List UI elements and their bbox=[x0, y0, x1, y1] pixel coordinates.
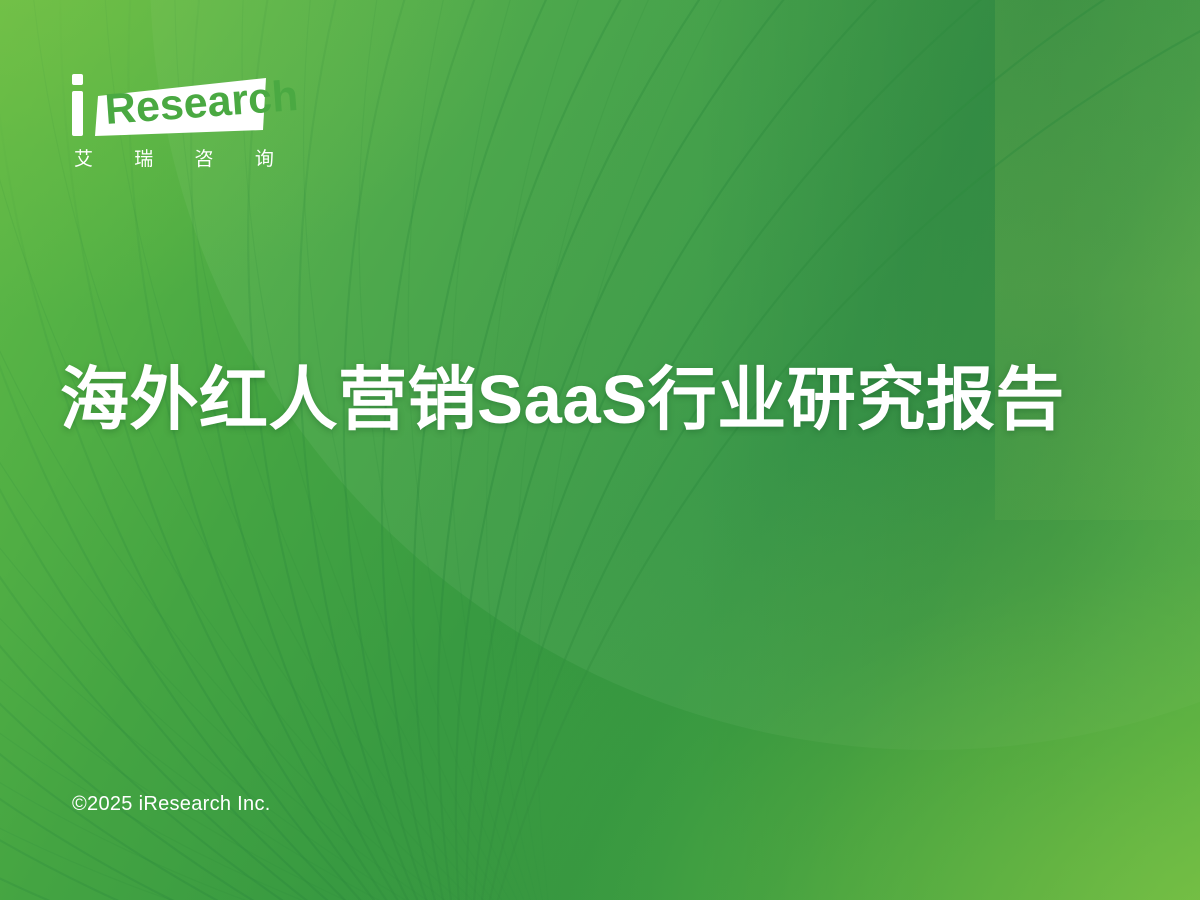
logo-subtitle: 艾 瑞 咨 询 bbox=[74, 144, 292, 171]
iresearch-logo: Research 艾 瑞 咨 询 bbox=[70, 72, 330, 172]
logo-wordmark-text: Research bbox=[103, 72, 300, 134]
report-cover: Research 艾 瑞 咨 询 海外红人营销SaaS行业研究报告 ©2025 … bbox=[0, 0, 1200, 900]
iresearch-logo-icon: Research bbox=[70, 72, 330, 144]
copyright-notice: ©2025 iResearch Inc. bbox=[72, 793, 271, 816]
page-title: 海外红人营销SaaS行业研究报告 bbox=[60, 364, 1150, 436]
